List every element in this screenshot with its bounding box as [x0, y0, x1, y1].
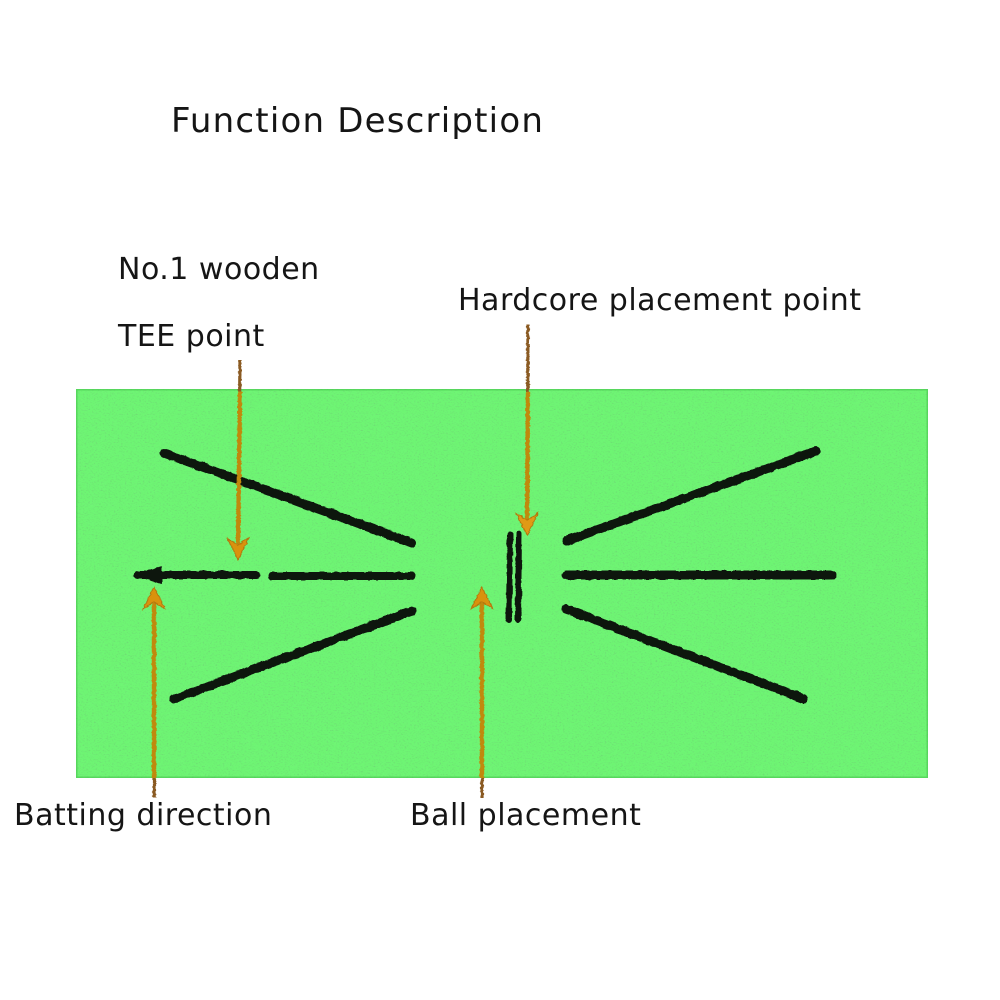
mat-texture-fine: [76, 389, 928, 778]
diagram-canvas: Function Description: [0, 0, 1000, 1000]
mat-graphic: [76, 389, 928, 778]
label-tee-point-line1: No.1 wooden: [118, 255, 320, 285]
marking-center-vertical-left: [509, 534, 510, 620]
label-ball-placement: Ball placement: [410, 801, 641, 831]
label-batting-direction: Batting direction: [14, 801, 272, 831]
marking-center-vertical-right: [518, 534, 519, 620]
label-tee-point-line2: TEE point: [118, 322, 265, 352]
label-hardcore-placement-point: Hardcore placement point: [458, 286, 862, 316]
golf-practice-mat: [76, 389, 928, 778]
page-title: Function Description: [171, 104, 544, 138]
